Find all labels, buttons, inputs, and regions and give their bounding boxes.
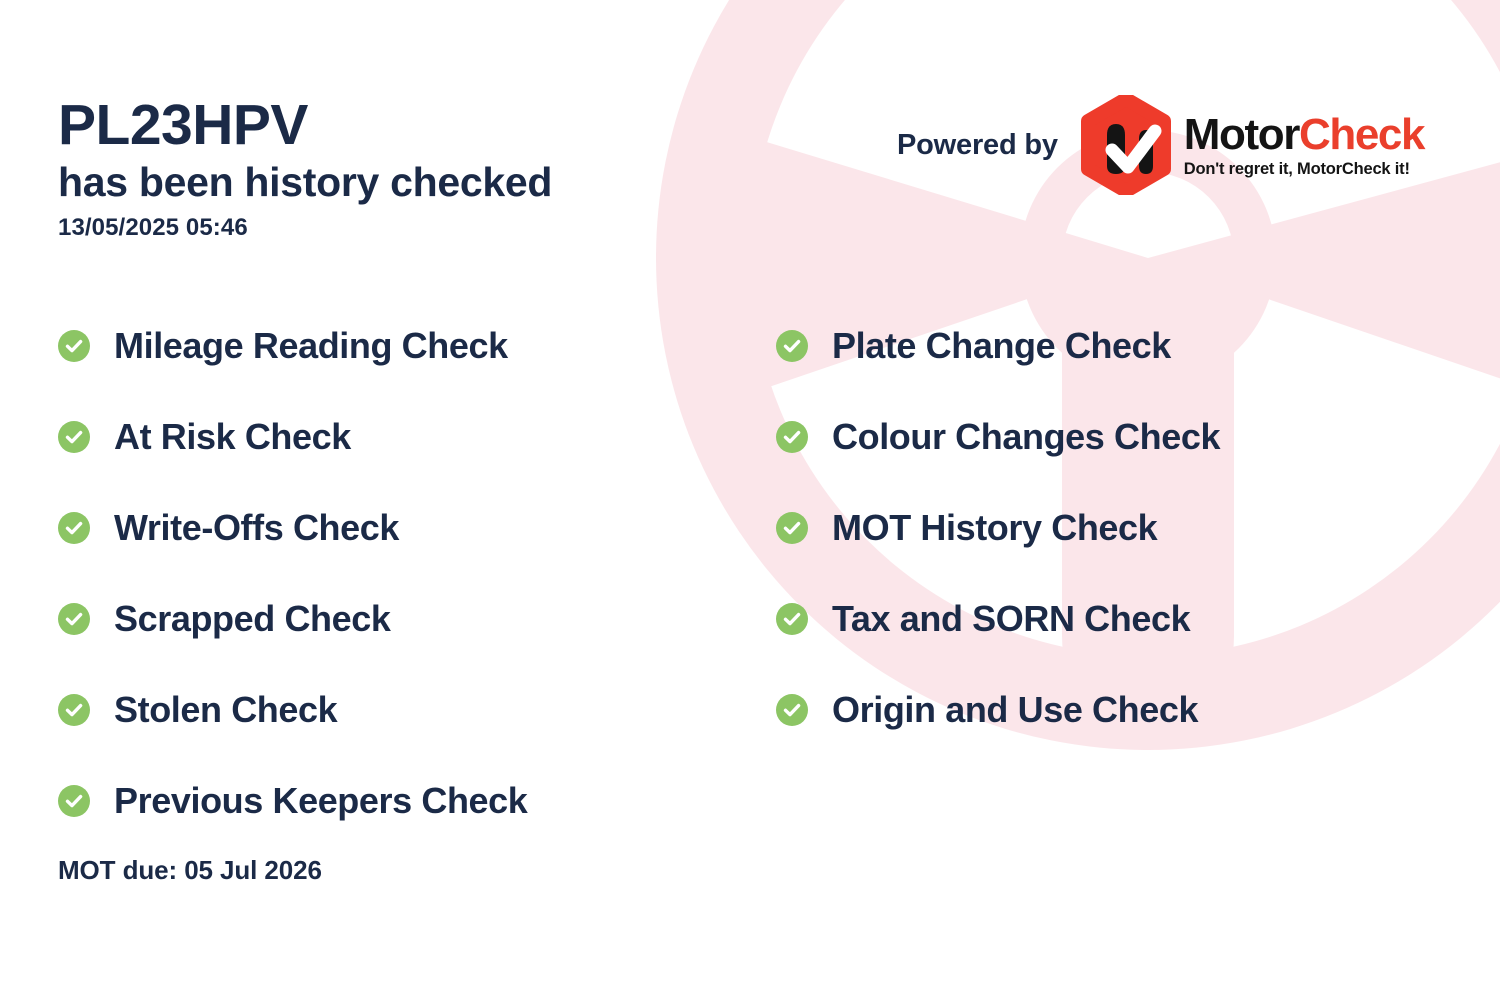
mot-due-date: MOT due: 05 Jul 2026 (58, 855, 322, 886)
list-item-label: Scrapped Check (114, 601, 391, 637)
registration-number: PL23HPV (58, 96, 758, 154)
logo-wordmark-motor: Motor (1184, 110, 1299, 159)
list-item-label: At Risk Check (114, 419, 351, 455)
check-list-right: Plate Change Check Colour Changes Check … (776, 300, 1220, 755)
list-item: Colour Changes Check (776, 391, 1220, 482)
header: PL23HPV has been history checked 13/05/2… (58, 96, 758, 242)
powered-by-block: Powered by MotorCheck Don't regret it, M… (897, 95, 1424, 195)
logo-wordmark: MotorCheck (1184, 113, 1424, 157)
list-item-label: Previous Keepers Check (114, 783, 527, 819)
check-list-left: Mileage Reading Check At Risk Check Writ… (58, 300, 527, 846)
list-item-label: MOT History Check (832, 510, 1157, 546)
list-item: Write-Offs Check (58, 482, 527, 573)
list-item: At Risk Check (58, 391, 527, 482)
list-item: MOT History Check (776, 482, 1220, 573)
check-circle-icon (58, 603, 90, 635)
check-circle-icon (776, 603, 808, 635)
list-item: Plate Change Check (776, 300, 1220, 391)
check-circle-icon (776, 694, 808, 726)
list-item: Mileage Reading Check (58, 300, 527, 391)
list-item: Origin and Use Check (776, 664, 1220, 755)
list-item: Scrapped Check (58, 573, 527, 664)
list-item: Tax and SORN Check (776, 573, 1220, 664)
list-item-label: Plate Change Check (832, 328, 1171, 364)
history-check-summary-card: PL23HPV has been history checked 13/05/2… (0, 0, 1500, 1000)
check-timestamp: 13/05/2025 05:46 (58, 214, 758, 242)
list-item-label: Stolen Check (114, 692, 337, 728)
logo-tagline: Don't regret it, MotorCheck it! (1184, 161, 1424, 178)
page-title: has been history checked (58, 158, 758, 206)
list-item-label: Mileage Reading Check (114, 328, 508, 364)
check-circle-icon (58, 421, 90, 453)
list-item-label: Tax and SORN Check (832, 601, 1190, 637)
check-circle-icon (776, 512, 808, 544)
motorcheck-hexagon-icon (1076, 95, 1176, 195)
check-circle-icon (58, 330, 90, 362)
motorcheck-logo[interactable]: MotorCheck Don't regret it, MotorCheck i… (1076, 95, 1424, 195)
check-circle-icon (776, 330, 808, 362)
list-item-label: Write-Offs Check (114, 510, 399, 546)
powered-by-label: Powered by (897, 129, 1058, 162)
list-item-label: Origin and Use Check (832, 692, 1198, 728)
list-item-label: Colour Changes Check (832, 419, 1220, 455)
check-circle-icon (58, 785, 90, 817)
check-circle-icon (58, 694, 90, 726)
logo-wordmark-check: Check (1299, 110, 1424, 159)
check-circle-icon (776, 421, 808, 453)
list-item: Previous Keepers Check (58, 755, 527, 846)
list-item: Stolen Check (58, 664, 527, 755)
check-circle-icon (58, 512, 90, 544)
